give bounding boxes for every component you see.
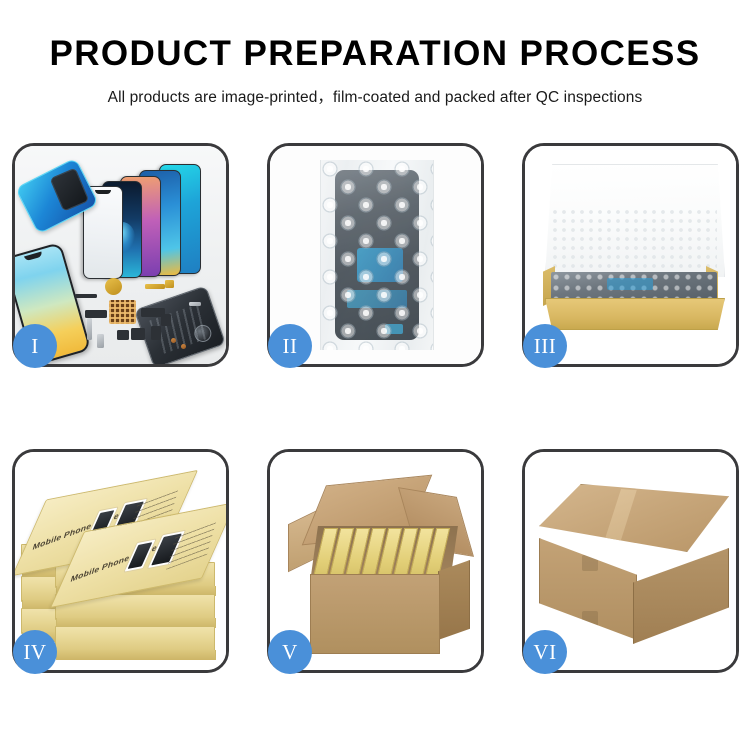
part-gold-flex (145, 284, 165, 289)
carton-side-face (633, 548, 729, 644)
carton-front-face (310, 574, 440, 654)
step-badge-3: III (523, 324, 567, 368)
process-step-panel-2[interactable]: II (267, 143, 484, 367)
process-step-panel-1[interactable]: I (12, 143, 229, 367)
part-flex-strip (75, 294, 97, 298)
process-steps-grid: I II III (12, 143, 740, 673)
foam-liner (551, 208, 717, 278)
spare-parts-group (73, 276, 201, 358)
part-button (117, 330, 129, 340)
part-camera-module (151, 326, 161, 340)
part-speaker-coil (105, 278, 122, 295)
part-sim-tray (97, 334, 104, 348)
part-logic-board (109, 300, 136, 324)
process-step-panel-6[interactable]: VI (522, 449, 739, 673)
bubble-wrapped-contents (551, 272, 717, 302)
part-metal-rail (87, 318, 92, 340)
packing-tape-strip (574, 489, 686, 547)
carton-flap-seam (582, 611, 598, 627)
process-step-panel-3[interactable]: III (522, 143, 739, 367)
part-tweezers (189, 302, 201, 306)
part-module (161, 314, 171, 326)
bubble-texture-overlay (321, 160, 433, 350)
part-gold-connector (165, 280, 174, 288)
bubble-wrap-sleeve (320, 160, 434, 350)
carton-flap-seam (582, 555, 598, 571)
carton-side-face (438, 560, 470, 640)
step-badge-4: IV (13, 630, 57, 674)
step-badge-2: II (268, 324, 312, 368)
open-shipping-carton (288, 474, 470, 660)
stacked-box (55, 626, 215, 652)
phone-notch-icon (95, 190, 111, 194)
page-subtitle: All products are image-printed，film-coat… (0, 85, 750, 107)
step-badge-5: V (268, 630, 312, 674)
retail-box-stack: Mobile Phone Spare Parts Mobile Phone Sp… (21, 470, 221, 660)
part-screw (181, 344, 186, 349)
box-side (56, 650, 216, 660)
phone-screen-fan (75, 162, 225, 277)
page-title: PRODUCT PREPARATION PROCESS (0, 34, 750, 74)
carton-front-face (539, 538, 637, 640)
process-step-panel-5[interactable]: V (267, 449, 484, 673)
step-badge-1: I (13, 324, 57, 368)
part-bracket (85, 310, 107, 318)
page-header: PRODUCT PREPARATION PROCESS All products… (0, 0, 750, 107)
kraft-box-front (545, 298, 725, 330)
process-step-panel-4[interactable]: Mobile Phone Spare Parts Mobile Phone Sp… (12, 449, 229, 673)
sealed-shipping-carton (539, 484, 727, 644)
part-vibrator (131, 328, 145, 340)
carton-top-face (539, 484, 729, 552)
step-badge-6: VI (523, 630, 567, 674)
part-screw (171, 338, 176, 343)
